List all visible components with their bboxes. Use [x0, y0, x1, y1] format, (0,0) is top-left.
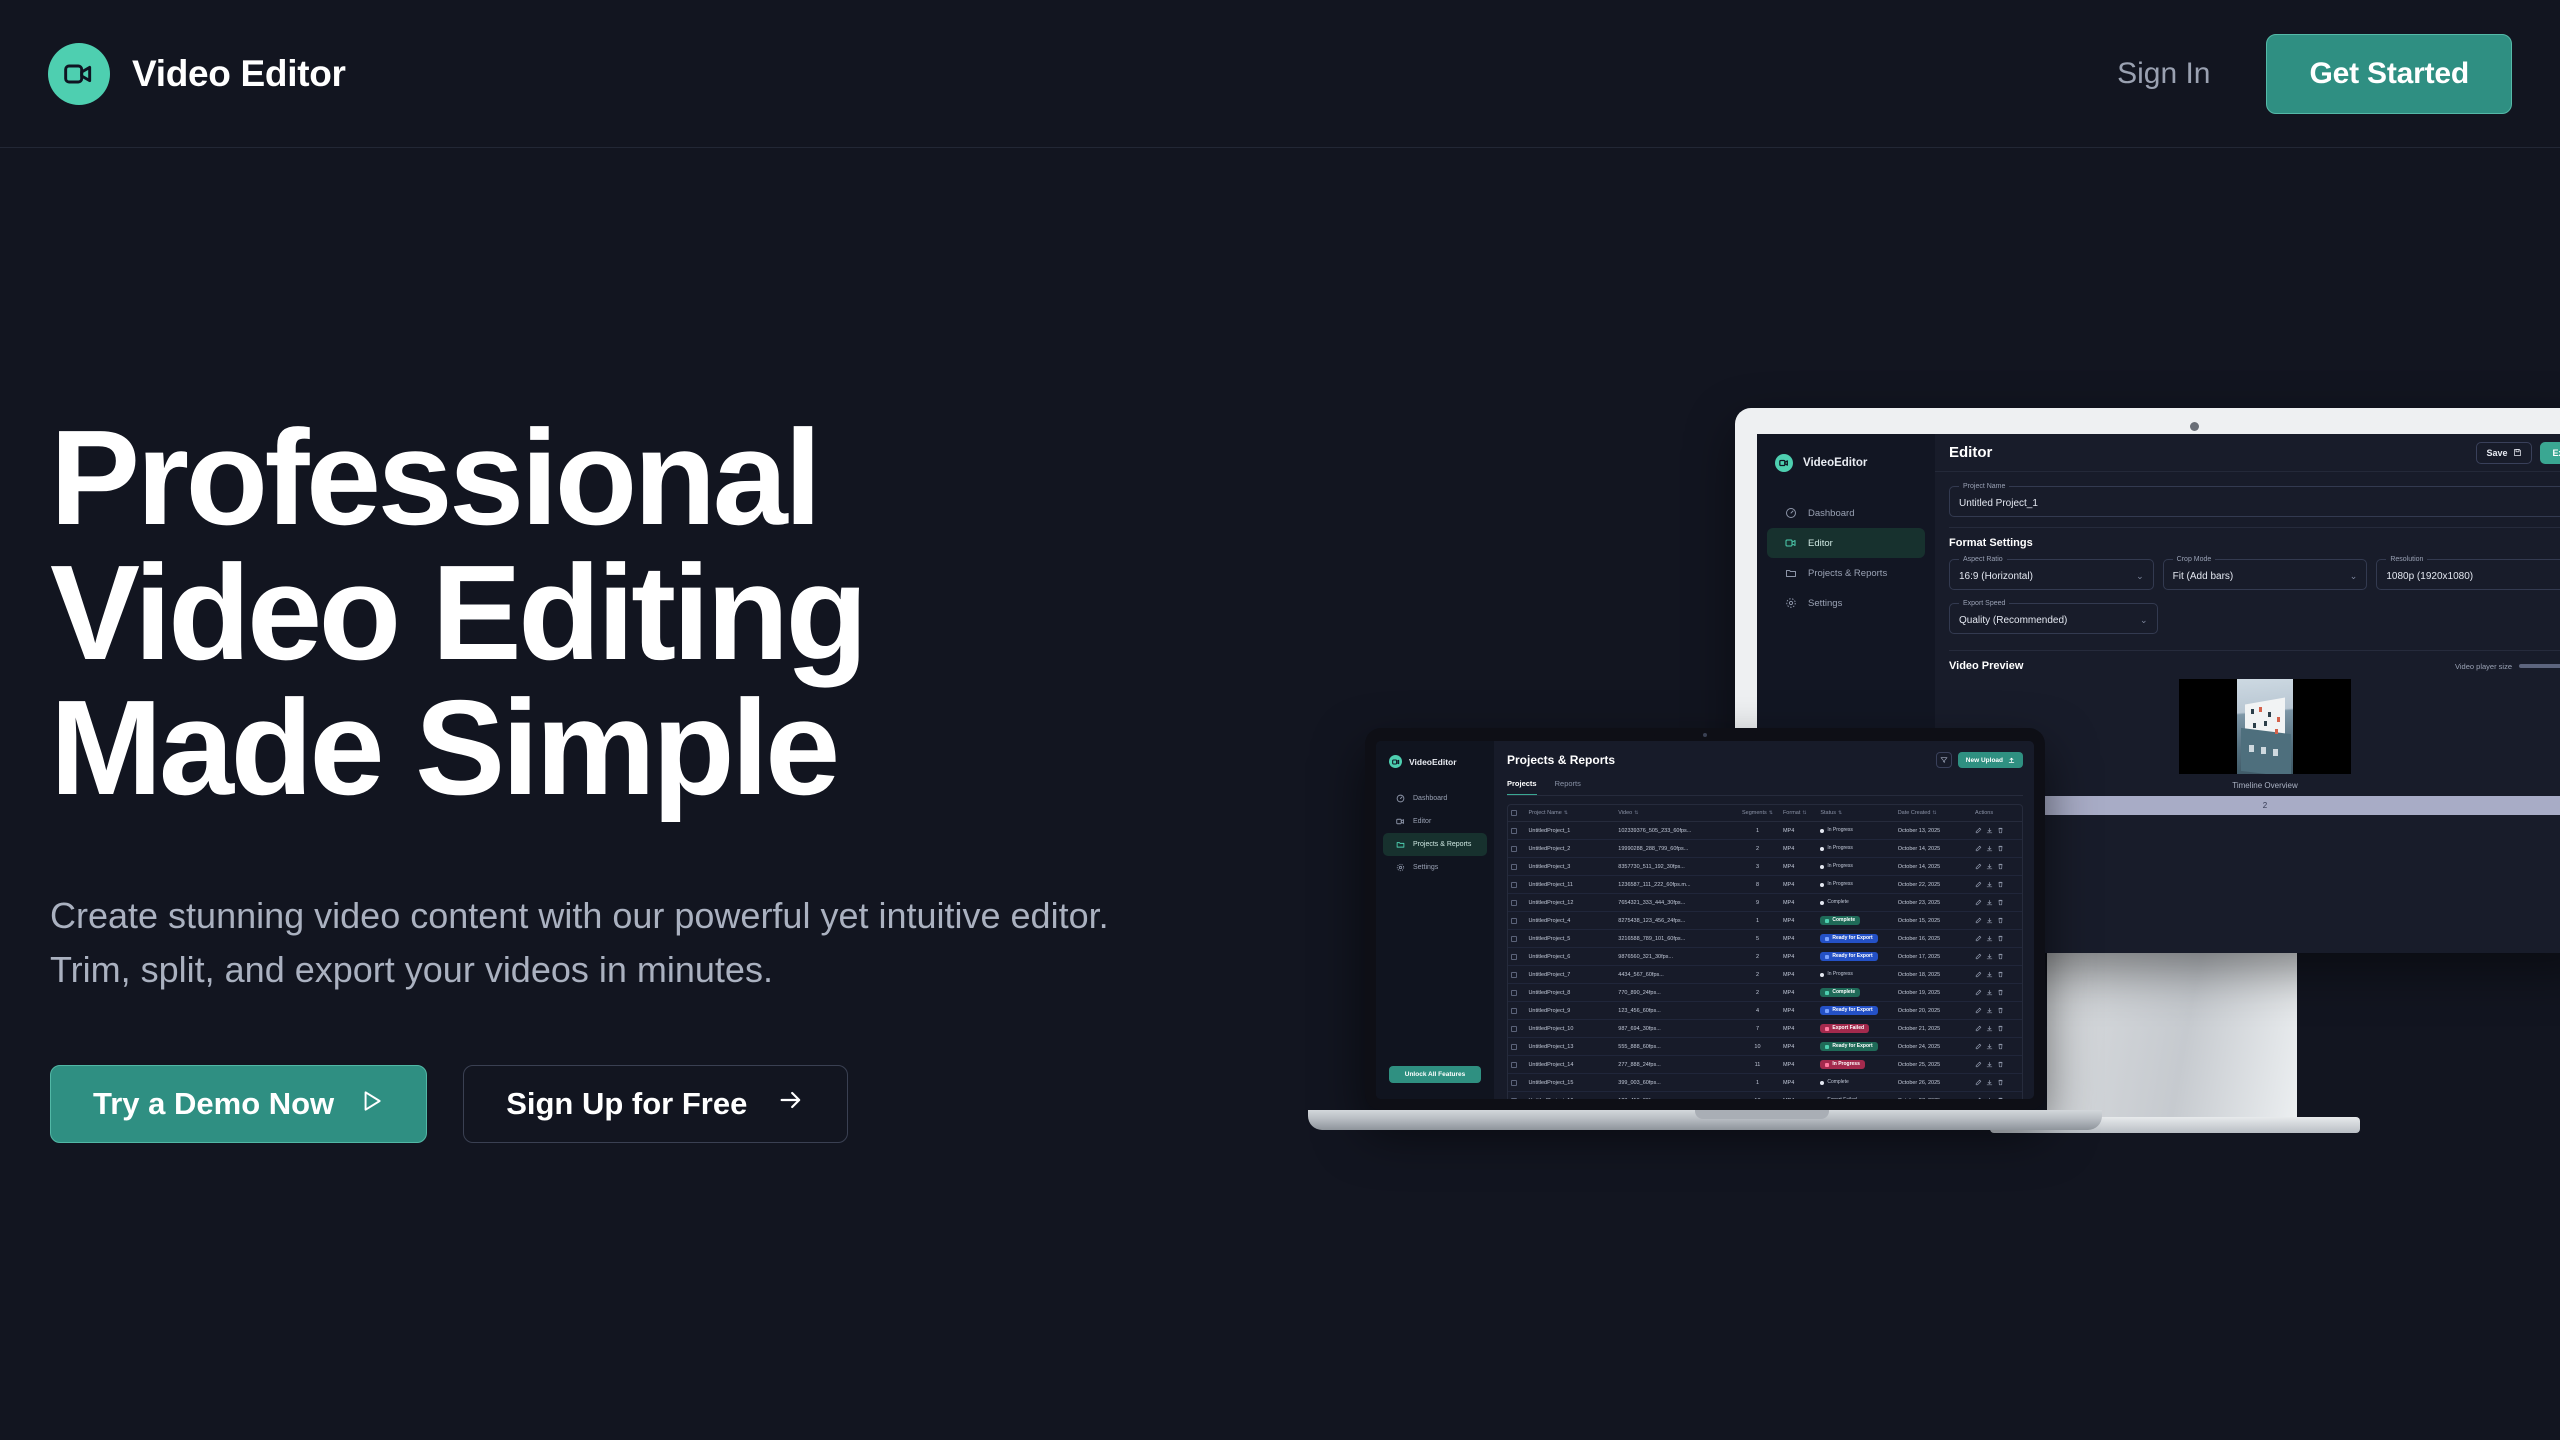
get-started-button[interactable]: Get Started: [2266, 34, 2512, 114]
row-checkbox[interactable]: [1508, 822, 1525, 840]
cell-segments: 1: [1735, 912, 1780, 930]
projects-sidebar: VideoEditor Dashboard Editor Projects & …: [1376, 741, 1494, 1099]
edit-icon[interactable]: [1975, 899, 1982, 906]
edit-icon[interactable]: [1975, 827, 1982, 834]
cell-date-created: October 19, 2025: [1895, 984, 1972, 1002]
export-speed-select[interactable]: Export Speed Quality (Recommended) ⌄: [1949, 600, 2158, 634]
cell-date-created: October 27, 2025: [1895, 1092, 1972, 1100]
chevron-down-icon: ⌄: [2350, 571, 2358, 582]
download-icon[interactable]: [1986, 1097, 1993, 1099]
cell-status: Complete: [1817, 1074, 1894, 1092]
cell-status: In Progress: [1817, 1056, 1894, 1074]
status-badge: In Progress: [1820, 1060, 1865, 1069]
checkbox-icon[interactable]: [1511, 828, 1517, 834]
sort-icon: ⇅: [1802, 810, 1806, 816]
edit-icon[interactable]: [1975, 1097, 1982, 1099]
aspect-ratio-select[interactable]: Aspect Ratio 16:9 (Horizontal) ⌄: [1949, 556, 2154, 590]
table-row[interactable]: UntitledProject_10987_694_30fps...7MP4Ex…: [1508, 1020, 2022, 1038]
projects-table: Project Name⇅ Video⇅ Segments⇅ Format⇅ S…: [1507, 804, 2023, 1099]
gear-icon: [1785, 597, 1797, 609]
cell-project-name: UntitledProject_14: [1525, 1056, 1615, 1074]
cell-video: 8357730_511_192_30fps...: [1615, 858, 1735, 876]
checkbox-icon[interactable]: [1511, 864, 1517, 870]
row-checkbox[interactable]: [1508, 840, 1525, 858]
table-row[interactable]: UntitledProject_14277_888_24fps...11MP4I…: [1508, 1056, 2022, 1074]
cell-actions: [1972, 984, 2022, 1002]
column-project-name[interactable]: Project Name⇅: [1525, 805, 1615, 822]
table-body: UntitledProject_1102339376_505_233_60fps…: [1508, 822, 2022, 1100]
cell-video: 9876560_321_30fps...: [1615, 948, 1735, 966]
folder-icon: [1396, 840, 1405, 849]
trash-icon[interactable]: [1997, 863, 2004, 870]
cell-segments: 8: [1735, 876, 1780, 894]
table-row[interactable]: UntitledProject_8770_890_24fps...2MP4Com…: [1508, 984, 2022, 1002]
export-speed-value: Quality (Recommended): [1959, 615, 2067, 626]
edit-icon[interactable]: [1975, 1007, 1982, 1014]
checkbox-icon[interactable]: [1511, 1026, 1517, 1032]
gear-icon: [1396, 863, 1405, 872]
cell-date-created: October 24, 2025: [1895, 1038, 1972, 1056]
cell-video: 3216588_789_101_60fps...: [1615, 930, 1735, 948]
sign-up-label: Sign Up for Free: [506, 1086, 747, 1122]
sidebar-item-projects-reports[interactable]: Projects & Reports: [1767, 558, 1925, 588]
edit-icon[interactable]: [1975, 1061, 1982, 1068]
checkbox-icon[interactable]: [1511, 900, 1517, 906]
row-checkbox[interactable]: [1508, 1074, 1525, 1092]
cell-format: MP4: [1780, 966, 1817, 984]
video-frame-image: [2237, 679, 2293, 774]
cell-format: MP4: [1780, 894, 1817, 912]
download-icon[interactable]: [1986, 845, 1993, 852]
editor-brand-name: VideoEditor: [1803, 457, 1867, 469]
resolution-label: Resolution: [2386, 556, 2427, 563]
sort-icon: ⇅: [1769, 810, 1773, 816]
trash-icon[interactable]: [1997, 845, 2004, 852]
checkbox-icon[interactable]: [1511, 810, 1517, 816]
sidebar-item-projects-reports[interactable]: Projects & Reports: [1383, 833, 1487, 856]
editor-page-title: Editor: [1949, 444, 1992, 461]
download-icon[interactable]: [1986, 863, 1993, 870]
table-row[interactable]: UntitledProject_9123_456_60fps...4MP4Rea…: [1508, 1002, 2022, 1020]
video-preview-canvas[interactable]: [2179, 679, 2351, 774]
cell-project-name: UntitledProject_13: [1525, 1038, 1615, 1056]
checkbox-icon[interactable]: [1511, 918, 1517, 924]
table-row[interactable]: UntitledProject_13555_888_60fps...10MP4R…: [1508, 1038, 2022, 1056]
hero-title-line-1: Professional: [50, 410, 1180, 545]
row-checkbox[interactable]: [1508, 1092, 1525, 1100]
editor-topbar-actions: Save Exp: [2476, 442, 2560, 464]
aspect-ratio-label: Aspect Ratio: [1959, 556, 2007, 563]
hero-title-line-2: Video Editing: [50, 545, 1180, 680]
cell-segments: 7: [1735, 1020, 1780, 1038]
export-speed-label: Export Speed: [1959, 600, 2009, 607]
try-demo-button[interactable]: Try a Demo Now: [50, 1065, 427, 1143]
table-row[interactable]: UntitledProject_15399_003_60fps...1MP4Co…: [1508, 1074, 2022, 1092]
sign-up-free-button[interactable]: Sign Up for Free: [463, 1065, 848, 1143]
laptop-camera-icon: [1703, 733, 1707, 737]
status-badge: In Progress: [1820, 880, 1858, 889]
unlock-all-features-button[interactable]: Unlock All Features: [1389, 1066, 1481, 1083]
trash-icon[interactable]: [1997, 899, 2004, 906]
crop-mode-value: Fit (Add bars): [2173, 571, 2234, 582]
column-actions: Actions: [1972, 805, 2022, 822]
table-row[interactable]: UntitledProject_111236587_111_222_60fps.…: [1508, 876, 2022, 894]
cell-actions: [1972, 1074, 2022, 1092]
download-icon[interactable]: [1986, 1061, 1993, 1068]
row-checkbox[interactable]: [1508, 912, 1525, 930]
edit-icon[interactable]: [1975, 989, 1982, 996]
arrow-right-icon: [777, 1086, 805, 1122]
status-badge: Export Failed: [1820, 1096, 1861, 1099]
cell-status: Export Failed: [1817, 1020, 1894, 1038]
checkbox-icon[interactable]: [1511, 1098, 1517, 1100]
status-badge: Complete: [1820, 898, 1853, 907]
aspect-ratio-value: 16:9 (Horizontal): [1959, 571, 2033, 582]
cell-format: MP4: [1780, 1020, 1817, 1038]
cell-actions: [1972, 894, 2022, 912]
table-row[interactable]: UntitledProject_1102339376_505_233_60fps…: [1508, 822, 2022, 840]
download-icon[interactable]: [1986, 1007, 1993, 1014]
cell-actions: [1972, 1038, 2022, 1056]
status-badge: In Progress: [1820, 862, 1858, 871]
cell-date-created: October 26, 2025: [1895, 1074, 1972, 1092]
cell-status: Ready for Export: [1817, 1002, 1894, 1020]
cell-video: 8275438_123_456_24fps...: [1615, 912, 1735, 930]
edit-icon[interactable]: [1975, 881, 1982, 888]
column-select-all[interactable]: [1508, 805, 1525, 822]
chevron-down-icon: ⌄: [2136, 571, 2144, 582]
cell-status: In Progress: [1817, 858, 1894, 876]
cell-date-created: October 16, 2025: [1895, 930, 1972, 948]
checkbox-icon[interactable]: [1511, 972, 1517, 978]
trash-icon[interactable]: [1997, 1007, 2004, 1014]
cell-actions: [1972, 948, 2022, 966]
cell-video: 277_888_24fps...: [1615, 1056, 1735, 1074]
status-badge: Complete: [1820, 1078, 1853, 1087]
brand-name: Video Editor: [132, 53, 346, 95]
video-preview-title: Video Preview: [1949, 660, 2023, 672]
cell-actions: [1972, 1020, 2022, 1038]
brand-logo-group[interactable]: Video Editor: [48, 43, 346, 105]
download-icon[interactable]: [1986, 1025, 1993, 1032]
table-row[interactable]: UntitledProject_127654321_333_444_30fps.…: [1508, 894, 2022, 912]
row-checkbox[interactable]: [1508, 1020, 1525, 1038]
sign-in-link[interactable]: Sign In: [2117, 57, 2210, 91]
save-disk-icon: [2513, 448, 2522, 457]
cell-status: Ready for Export: [1817, 930, 1894, 948]
edit-icon[interactable]: [1975, 953, 1982, 960]
play-icon: [358, 1086, 384, 1122]
cell-status: Ready for Export: [1817, 948, 1894, 966]
cell-video: 555_888_60fps...: [1615, 1038, 1735, 1056]
cell-video: 7654321_333_444_30fps...: [1615, 894, 1735, 912]
cell-format: MP4: [1780, 930, 1817, 948]
cell-format: MP4: [1780, 1002, 1817, 1020]
table-row[interactable]: UntitledProject_53216588_789_101_60fps..…: [1508, 930, 2022, 948]
checkbox-icon[interactable]: [1511, 1080, 1517, 1086]
hero-subtitle: Create stunning video content with our p…: [50, 889, 1140, 997]
cell-date-created: October 17, 2025: [1895, 948, 1972, 966]
video-player-size-slider[interactable]: Video player size: [2455, 662, 2560, 671]
cell-format: MP4: [1780, 1074, 1817, 1092]
sidebar-label-projects: Projects & Reports: [1808, 568, 1887, 579]
trash-icon[interactable]: [1997, 989, 2004, 996]
trash-icon[interactable]: [1997, 827, 2004, 834]
column-video[interactable]: Video⇅: [1615, 805, 1735, 822]
checkbox-icon[interactable]: [1511, 936, 1517, 942]
page-title: Professional Video Editing Made Simple: [50, 410, 1180, 815]
cell-date-created: October 13, 2025: [1895, 822, 1972, 840]
cell-date-created: October 14, 2025: [1895, 840, 1972, 858]
table-row[interactable]: UntitledProject_48275438_123_456_24fps..…: [1508, 912, 2022, 930]
video-camera-icon: [48, 43, 110, 105]
cell-project-name: UntitledProject_7: [1525, 966, 1615, 984]
cell-format: MP4: [1780, 876, 1817, 894]
edit-icon[interactable]: [1975, 863, 1982, 870]
new-upload-label: New Upload: [1966, 757, 2003, 764]
cell-project-name: UntitledProject_15: [1525, 1074, 1615, 1092]
format-settings-title: Format Settings: [1949, 537, 2560, 549]
cell-date-created: October 20, 2025: [1895, 1002, 1972, 1020]
gauge-icon: [1396, 794, 1405, 803]
trash-icon[interactable]: [1997, 917, 2004, 924]
cell-status: In Progress: [1817, 840, 1894, 858]
cell-format: MP4: [1780, 858, 1817, 876]
cell-actions: [1972, 840, 2022, 858]
sidebar-label-dashboard: Dashboard: [1413, 795, 1447, 802]
trash-icon[interactable]: [1997, 1043, 2004, 1050]
download-icon[interactable]: [1986, 899, 1993, 906]
cell-segments: 3: [1735, 858, 1780, 876]
download-icon[interactable]: [1986, 989, 1993, 996]
sidebar-label-settings: Settings: [1413, 864, 1438, 871]
cell-format: MP4: [1780, 912, 1817, 930]
cell-segments: 4: [1735, 1002, 1780, 1020]
cell-project-name: UntitledProject_5: [1525, 930, 1615, 948]
row-checkbox[interactable]: [1508, 876, 1525, 894]
cell-date-created: October 21, 2025: [1895, 1020, 1972, 1038]
cell-project-name: UntitledProject_11: [1525, 876, 1615, 894]
cell-actions: [1972, 858, 2022, 876]
cell-segments: 2: [1735, 984, 1780, 1002]
edit-icon[interactable]: [1975, 1079, 1982, 1086]
cell-video: 4434_567_60fps...: [1615, 966, 1735, 984]
projects-main: Projects & Reports New Upload: [1494, 741, 2034, 1099]
download-icon[interactable]: [1986, 881, 1993, 888]
download-icon[interactable]: [1986, 953, 1993, 960]
cell-date-created: October 23, 2025: [1895, 894, 1972, 912]
column-status[interactable]: Status⇅: [1817, 805, 1894, 822]
slider-track[interactable]: [2519, 664, 2560, 668]
trash-icon[interactable]: [1997, 1079, 2004, 1086]
row-checkbox[interactable]: [1508, 948, 1525, 966]
table-row[interactable]: UntitledProject_69876560_321_30fps...2MP…: [1508, 948, 2022, 966]
edit-icon[interactable]: [1975, 917, 1982, 924]
sidebar-label-settings: Settings: [1808, 598, 1842, 609]
new-upload-button[interactable]: New Upload: [1958, 752, 2023, 768]
row-checkbox[interactable]: [1508, 894, 1525, 912]
editor-topbar: Editor Save Exp: [1935, 434, 2560, 472]
row-checkbox[interactable]: [1508, 930, 1525, 948]
cell-project-name: UntitledProject_9: [1525, 1002, 1615, 1020]
video-camera-icon: [1785, 537, 1797, 549]
status-badge: In Progress: [1820, 844, 1858, 853]
cell-project-name: UntitledProject_16: [1525, 1092, 1615, 1100]
video-camera-icon: [1389, 755, 1402, 768]
save-label: Save: [2486, 448, 2507, 458]
hero-section: Professional Video Editing Made Simple C…: [0, 148, 1180, 1143]
checkbox-icon[interactable]: [1511, 882, 1517, 888]
save-button[interactable]: Save: [2476, 442, 2532, 464]
header-actions: Sign In Get Started: [2117, 34, 2512, 114]
gauge-icon: [1785, 507, 1797, 519]
download-icon[interactable]: [1986, 827, 1993, 834]
table-row[interactable]: UntitledProject_219990288_288_799_60fps.…: [1508, 840, 2022, 858]
funnel-icon[interactable]: [1936, 752, 1952, 768]
trash-icon[interactable]: [1997, 881, 2004, 888]
cell-format: MP4: [1780, 948, 1817, 966]
sort-icon: ⇅: [1838, 810, 1842, 816]
cell-status: Complete: [1817, 894, 1894, 912]
edit-icon[interactable]: [1975, 845, 1982, 852]
cell-segments: 2: [1735, 840, 1780, 858]
cell-segments: 1: [1735, 1074, 1780, 1092]
checkbox-icon[interactable]: [1511, 846, 1517, 852]
sidebar-item-editor[interactable]: Editor: [1383, 810, 1487, 833]
download-icon[interactable]: [1986, 935, 1993, 942]
video-camera-icon: [1775, 454, 1793, 472]
projects-brand-name: VideoEditor: [1409, 757, 1457, 767]
tab-projects[interactable]: Projects: [1507, 779, 1537, 795]
sidebar-item-settings[interactable]: Settings: [1383, 856, 1487, 879]
sidebar-item-dashboard[interactable]: Dashboard: [1767, 498, 1925, 528]
cell-video: 102339376_505_233_60fps...: [1615, 822, 1735, 840]
row-checkbox[interactable]: [1508, 1038, 1525, 1056]
sidebar-label-editor: Editor: [1808, 538, 1833, 549]
trash-icon[interactable]: [1997, 935, 2004, 942]
cell-date-created: October 25, 2025: [1895, 1056, 1972, 1074]
cell-project-name: UntitledProject_1: [1525, 822, 1615, 840]
download-icon[interactable]: [1986, 1043, 1993, 1050]
download-icon[interactable]: [1986, 1079, 1993, 1086]
sort-icon: ⇅: [1634, 810, 1638, 816]
checkbox-icon[interactable]: [1511, 990, 1517, 996]
column-date-created[interactable]: Date Created⇅: [1895, 805, 1972, 822]
try-demo-label: Try a Demo Now: [93, 1086, 334, 1122]
row-checkbox[interactable]: [1508, 1056, 1525, 1074]
trash-icon[interactable]: [1997, 953, 2004, 960]
cell-project-name: UntitledProject_4: [1525, 912, 1615, 930]
tab-reports[interactable]: Reports: [1555, 779, 1581, 795]
cell-segments: 18: [1735, 1092, 1780, 1100]
sort-icon: ⇅: [1564, 810, 1568, 816]
checkbox-icon[interactable]: [1511, 1062, 1517, 1068]
table-row[interactable]: UntitledProject_74434_567_60fps...2MP4In…: [1508, 966, 2022, 984]
status-badge: Complete: [1820, 916, 1860, 925]
sidebar-label-projects: Projects & Reports: [1413, 841, 1471, 848]
sidebar-item-settings[interactable]: Settings: [1767, 588, 1925, 618]
status-badge: Ready for Export: [1820, 952, 1877, 961]
sidebar-item-editor[interactable]: Editor: [1767, 528, 1925, 558]
cell-status: In Progress: [1817, 876, 1894, 894]
checkbox-icon[interactable]: [1511, 954, 1517, 960]
trash-icon[interactable]: [1997, 1097, 2004, 1099]
cell-project-name: UntitledProject_2: [1525, 840, 1615, 858]
table-row[interactable]: UntitledProject_16123_456_30fps...18MP4E…: [1508, 1092, 2022, 1100]
cell-segments: 2: [1735, 966, 1780, 984]
checkbox-icon[interactable]: [1511, 1044, 1517, 1050]
column-segments[interactable]: Segments⇅: [1735, 805, 1780, 822]
laptop-lid: VideoEditor Dashboard Editor Projects & …: [1365, 728, 2045, 1110]
cell-status: Complete: [1817, 984, 1894, 1002]
cell-status: Complete: [1817, 912, 1894, 930]
download-icon[interactable]: [1986, 971, 1993, 978]
cell-actions: [1972, 876, 2022, 894]
crop-mode-select[interactable]: Crop Mode Fit (Add bars) ⌄: [2163, 556, 2368, 590]
cell-actions: [1972, 1092, 2022, 1100]
project-name-label: Project Name: [1959, 483, 2009, 490]
video-camera-icon: [1396, 817, 1405, 826]
resolution-select[interactable]: Resolution 1080p (1920x1080) ⌄: [2376, 556, 2560, 590]
download-icon[interactable]: [1986, 917, 1993, 924]
trash-icon[interactable]: [1997, 1025, 2004, 1032]
column-format[interactable]: Format⇅: [1780, 805, 1817, 822]
cell-project-name: UntitledProject_6: [1525, 948, 1615, 966]
edit-icon[interactable]: [1975, 1025, 1982, 1032]
cell-status: In Progress: [1817, 822, 1894, 840]
checkbox-icon[interactable]: [1511, 1008, 1517, 1014]
laptop-mockup: VideoEditor Dashboard Editor Projects & …: [1365, 728, 2045, 1130]
cell-video: 987_694_30fps...: [1615, 1020, 1735, 1038]
crop-mode-label: Crop Mode: [2173, 556, 2216, 563]
sidebar-item-dashboard[interactable]: Dashboard: [1383, 787, 1487, 810]
project-name-field[interactable]: Project Name Untitled Project_1: [1949, 483, 2560, 517]
trash-icon[interactable]: [1997, 1061, 2004, 1068]
cell-actions: [1972, 912, 2022, 930]
status-badge: Export Failed: [1820, 1024, 1869, 1033]
hero-title-line-3: Made Simple: [50, 680, 1180, 815]
cell-video: 1236587_111_222_60fps.m...: [1615, 876, 1735, 894]
export-button[interactable]: Exp: [2540, 442, 2560, 464]
hero-cta-group: Try a Demo Now Sign Up for Free: [50, 1065, 1180, 1143]
chevron-down-icon: ⌄: [2140, 615, 2148, 626]
upload-icon: [2008, 757, 2015, 764]
cell-format: MP4: [1780, 1038, 1817, 1056]
row-checkbox[interactable]: [1508, 984, 1525, 1002]
row-checkbox[interactable]: [1508, 858, 1525, 876]
projects-header-actions: New Upload: [1936, 752, 2023, 768]
edit-icon[interactable]: [1975, 971, 1982, 978]
sidebar-label-dashboard: Dashboard: [1808, 508, 1854, 519]
table-row[interactable]: UntitledProject_38357730_511_192_30fps..…: [1508, 858, 2022, 876]
cell-video: 123_456_60fps...: [1615, 1002, 1735, 1020]
player-size-label: Video player size: [2455, 662, 2512, 671]
cell-date-created: October 15, 2025: [1895, 912, 1972, 930]
status-badge: Complete: [1820, 988, 1860, 997]
cell-actions: [1972, 1056, 2022, 1074]
edit-icon[interactable]: [1975, 935, 1982, 942]
cell-format: MP4: [1780, 1092, 1817, 1100]
editor-sidebar-brand: VideoEditor: [1757, 454, 1935, 472]
divider: [1949, 527, 2560, 528]
edit-icon[interactable]: [1975, 1043, 1982, 1050]
video-preview-header: Video Preview Video player size: [1949, 660, 2560, 672]
row-checkbox[interactable]: [1508, 966, 1525, 984]
divider: [1949, 650, 2560, 651]
row-checkbox[interactable]: [1508, 1002, 1525, 1020]
trash-icon[interactable]: [1997, 971, 2004, 978]
status-badge: Ready for Export: [1820, 934, 1877, 943]
